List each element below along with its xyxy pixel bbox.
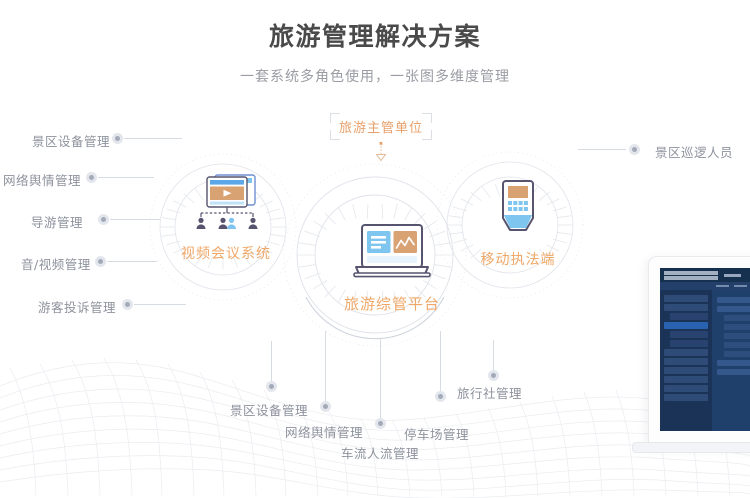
mobile-device-icon (493, 178, 543, 240)
left-label-0: 景区设备管理 (32, 131, 110, 150)
tree-node[interactable] (717, 360, 750, 366)
page-subtitle: 一套系统多角色使用，一张图多维度管理 (0, 66, 750, 86)
node-video-conference[interactable]: 视频会议系统 (160, 172, 292, 263)
bottom-label-3: 停车场管理 (404, 424, 469, 443)
authority-badge-label: 旅游主管单位 (339, 117, 423, 136)
bottom-dot-2 (375, 418, 386, 429)
sidebar-item[interactable] (664, 385, 708, 392)
left-dot-4 (122, 299, 133, 310)
bottom-label-4: 旅行社管理 (457, 383, 522, 402)
sidebar-item[interactable] (664, 394, 708, 401)
dashboard-sidebar[interactable] (660, 290, 712, 431)
page-title: 旅游管理解决方案 (0, 22, 750, 52)
left-line-2 (110, 219, 160, 220)
bottom-line-2 (380, 338, 381, 420)
tab-item[interactable] (734, 285, 747, 287)
node-label-video-conference: 视频会议系统 (160, 243, 292, 263)
infographic-canvas: 旅游管理解决方案 一套系统多角色使用，一张图多维度管理 旅游主管单位 (0, 0, 750, 498)
bottom-dot-0 (266, 381, 277, 392)
sidebar-item[interactable] (664, 349, 708, 356)
laptop-preview (648, 256, 750, 471)
left-label-4: 游客投诉管理 (38, 297, 116, 316)
sidebar-subitem[interactable] (670, 313, 708, 320)
left-label-2: 导游管理 (31, 212, 83, 231)
dashboard-tree-panel[interactable] (712, 290, 750, 431)
laptop-dashboard-icon (349, 222, 435, 284)
bottom-label-1: 网络舆情管理 (285, 422, 363, 441)
tree-child-node[interactable] (724, 342, 750, 348)
sidebar-item[interactable] (664, 358, 708, 365)
badge-corner-top-right (422, 113, 432, 123)
dashboard-topbar (660, 268, 750, 282)
bottom-dot-4 (488, 370, 499, 381)
tree-node[interactable] (717, 306, 750, 312)
tree-node[interactable] (717, 369, 750, 375)
left-line-3 (107, 261, 157, 262)
bottom-label-2: 车流人流管理 (341, 443, 419, 462)
tree-child-node[interactable] (724, 315, 750, 321)
left-dot-0 (112, 133, 123, 144)
authority-badge: 旅游主管单位 (330, 113, 432, 140)
top-menu-item[interactable] (724, 274, 741, 277)
down-arrow-icon (369, 142, 393, 166)
badge-corner-bottom-left (330, 130, 340, 140)
tree-child-node[interactable] (724, 333, 750, 339)
node-label-tourism-platform: 旅游综管平台 (317, 293, 467, 314)
bottom-label-0: 景区设备管理 (230, 400, 308, 419)
left-label-3: 音/视频管理 (21, 254, 91, 273)
right-line-0 (578, 149, 626, 150)
tab-item[interactable] (716, 285, 729, 287)
node-label-mobile-enforcement: 移动执法端 (452, 249, 584, 269)
dashboard-main (660, 290, 750, 431)
left-dot-1 (86, 172, 97, 183)
left-dot-3 (95, 256, 106, 267)
laptop-body (648, 256, 750, 448)
right-label-0: 景区巡逻人员 (655, 142, 733, 161)
left-dot-2 (98, 214, 109, 225)
right-dot-0 (629, 144, 640, 155)
bottom-line-4 (493, 340, 494, 372)
left-label-1: 网络舆情管理 (3, 170, 81, 189)
bottom-line-0 (271, 341, 272, 383)
badge-corner-top-left (330, 113, 340, 123)
bottom-dot-1 (320, 401, 331, 412)
dashboard-top-menu[interactable] (718, 274, 750, 277)
sidebar-subitem[interactable] (670, 331, 708, 338)
dashboard-screen (660, 268, 750, 431)
sidebar-item-selected[interactable] (664, 322, 708, 329)
dashboard-tabbar[interactable] (660, 282, 750, 290)
bottom-line-1 (325, 331, 326, 403)
laptop-base (632, 442, 750, 453)
video-window-icon (187, 172, 265, 234)
tree-child-node[interactable] (724, 351, 750, 357)
left-line-0 (124, 138, 182, 139)
left-line-1 (98, 177, 154, 178)
sidebar-item[interactable] (664, 304, 708, 311)
left-line-4 (134, 304, 186, 305)
sidebar-item[interactable] (664, 367, 708, 374)
tree-child-node[interactable] (724, 324, 750, 330)
badge-corner-bottom-right (422, 130, 432, 140)
dashboard-logo (664, 271, 718, 280)
sidebar-item[interactable] (664, 295, 708, 302)
wave-mesh-decoration (0, 328, 750, 498)
sidebar-item[interactable] (664, 376, 708, 383)
node-tourism-platform[interactable]: 旅游综管平台 (317, 222, 467, 314)
bottom-line-3 (440, 331, 441, 393)
tree-node[interactable] (717, 297, 750, 303)
bottom-dot-3 (435, 391, 446, 402)
header: 旅游管理解决方案 一套系统多角色使用，一张图多维度管理 (0, 0, 750, 86)
node-mobile-enforcement[interactable]: 移动执法端 (452, 178, 584, 269)
sidebar-subitem[interactable] (670, 340, 708, 347)
